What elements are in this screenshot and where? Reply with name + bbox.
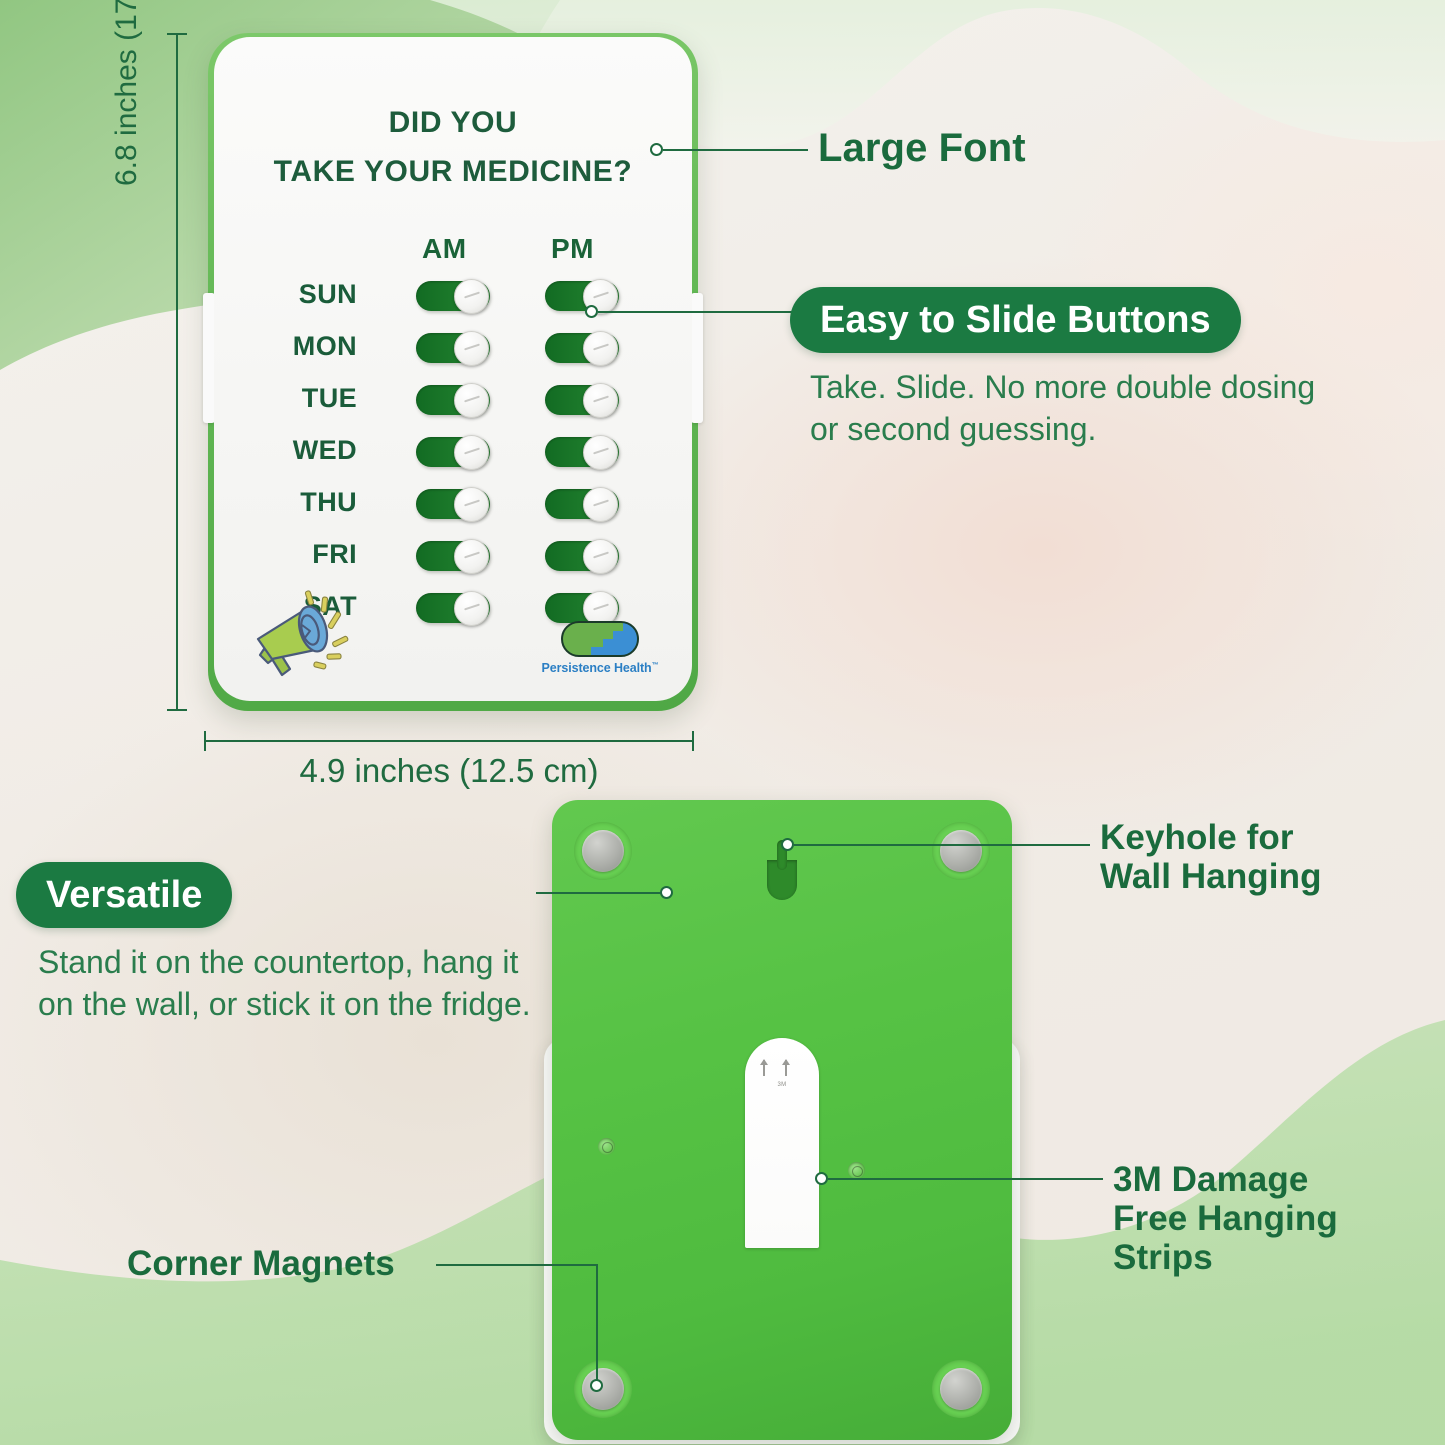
table-row: SUN (214, 273, 692, 325)
column-headers: AM PM (214, 233, 692, 265)
callout-versatile-body: Stand it on the countertop, hang it on t… (38, 942, 548, 1025)
keyhole-icon (767, 840, 797, 902)
callout-line-keyhole (794, 844, 1090, 846)
callout-large-font-title: Large Font (818, 126, 1026, 171)
toggle-mon-am[interactable] (416, 333, 490, 363)
toggle-thu-am[interactable] (416, 489, 490, 519)
trademark-symbol: ™ (652, 662, 659, 669)
callout-dot-corner-magnets (590, 1379, 603, 1392)
toggle-sat-pm[interactable] (545, 593, 619, 623)
board-title: DID YOU TAKE YOUR MEDICINE? (214, 99, 692, 196)
corner-magnet-top-right (932, 822, 990, 880)
day-label: FRI (312, 539, 357, 570)
capsule-logo-icon (561, 621, 639, 657)
callout-dot-keyhole (781, 838, 794, 851)
callout-dot-versatile (660, 886, 673, 899)
callout-keyhole-line-2: Wall Hanging (1100, 857, 1322, 896)
callout-dot-large-font (650, 143, 663, 156)
corner-magnet-top-left (574, 822, 632, 880)
board-title-line-2: TAKE YOUR MEDICINE? (214, 148, 692, 197)
toggle-wed-am[interactable] (416, 437, 490, 467)
hanging-strip: 3M (745, 1038, 819, 1248)
screw-right (848, 1162, 865, 1179)
medicine-tracker-board[interactable]: DID YOU TAKE YOUR MEDICINE? AM PM SUN MO… (208, 33, 698, 711)
callout-versatile-title: Versatile (16, 862, 232, 928)
width-dimension-line (204, 740, 694, 742)
callout-line-large-font (663, 149, 808, 151)
callout-slide-buttons-title: Easy to Slide Buttons (790, 287, 1241, 353)
day-rows: SUN MON TUE WED THU (214, 273, 692, 637)
toggle-sun-pm[interactable] (545, 281, 619, 311)
callout-line-slide-buttons (598, 311, 794, 313)
brand-logo: Persistence Health™ (534, 621, 666, 675)
callout-hanging-strips-title: 3M Damage Free Hanging Strips (1113, 1160, 1338, 1278)
table-row: MON (214, 325, 692, 377)
callout-hanging-strips-line-2: Free Hanging (1113, 1199, 1338, 1238)
callout-slide-buttons-body: Take. Slide. No more double dosing or se… (810, 367, 1330, 450)
day-label: THU (300, 487, 357, 518)
callout-dot-slide-buttons (585, 305, 598, 318)
day-label: SUN (299, 279, 357, 310)
callout-corner-magnets-title: Corner Magnets (127, 1244, 395, 1283)
callout-slide-buttons-label: Easy to Slide Buttons (820, 299, 1211, 342)
table-row: TUE (214, 377, 692, 429)
callout-keyhole-line-1: Keyhole for (1100, 818, 1322, 857)
table-row: FRI (214, 533, 692, 585)
toggle-fri-pm[interactable] (545, 541, 619, 571)
callout-hanging-strips-line-3: Strips (1113, 1238, 1338, 1277)
megaphone-icon (246, 587, 356, 679)
table-row: WED (214, 429, 692, 481)
toggle-tue-am[interactable] (416, 385, 490, 415)
brand-name: Persistence Health™ (534, 661, 666, 675)
toggle-sun-am[interactable] (416, 281, 490, 311)
toggle-thu-pm[interactable] (545, 489, 619, 519)
callout-vline-corner-magnets (596, 1264, 598, 1385)
board-title-line-1: DID YOU (214, 99, 692, 148)
column-header-pm: PM (551, 233, 594, 265)
width-dimension-label: 4.9 inches (12.5 cm) (204, 752, 694, 790)
strip-label: 3M (745, 1082, 819, 1088)
day-label: TUE (302, 383, 357, 414)
toggle-fri-am[interactable] (416, 541, 490, 571)
column-header-am: AM (422, 233, 467, 265)
callout-hanging-strips-line-1: 3M Damage (1113, 1160, 1338, 1199)
callout-versatile-label: Versatile (46, 874, 202, 917)
callout-line-corner-magnets (436, 1264, 598, 1266)
corner-magnet-bottom-right (932, 1360, 990, 1418)
screw-left (598, 1138, 615, 1155)
callout-line-hanging-strips (828, 1178, 1103, 1180)
callout-line-versatile (536, 892, 666, 894)
callout-keyhole-title: Keyhole for Wall Hanging (1100, 818, 1322, 896)
toggle-tue-pm[interactable] (545, 385, 619, 415)
day-label: MON (293, 331, 357, 362)
day-label: WED (293, 435, 357, 466)
toggle-wed-pm[interactable] (545, 437, 619, 467)
table-row: THU (214, 481, 692, 533)
height-dimension-line (176, 33, 178, 711)
callout-dot-hanging-strips (815, 1172, 828, 1185)
back-panel-body: 3M (552, 800, 1012, 1440)
toggle-sat-am[interactable] (416, 593, 490, 623)
toggle-mon-pm[interactable] (545, 333, 619, 363)
height-dimension-label: 6.8 inches (17 cm) (110, 0, 144, 186)
back-panel[interactable]: 3M (552, 800, 1012, 1440)
board-face: DID YOU TAKE YOUR MEDICINE? AM PM SUN MO… (214, 37, 692, 701)
corner-magnet-bottom-left (574, 1360, 632, 1418)
